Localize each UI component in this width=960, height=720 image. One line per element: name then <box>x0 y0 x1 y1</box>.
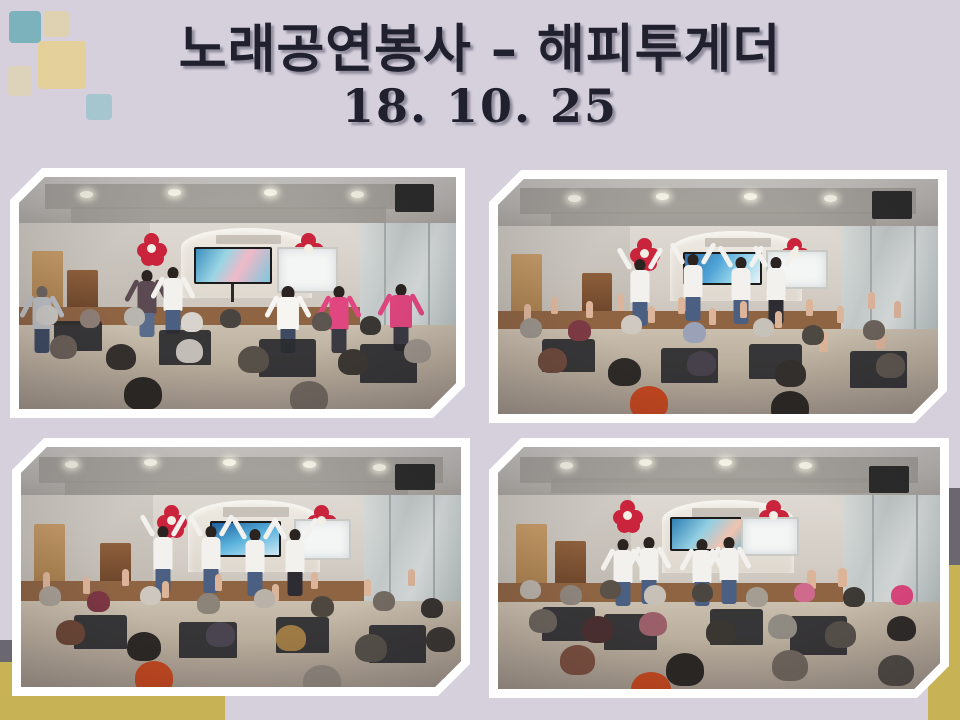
slide-date: 18. 10. 25 <box>0 80 960 133</box>
photo-bottom-left-image <box>21 447 461 687</box>
photo-bottom-right-image <box>498 447 940 689</box>
photo-top-right[interactable] <box>489 170 947 423</box>
photo-top-right-image <box>498 179 938 414</box>
decor-square-beige-left <box>8 66 32 96</box>
slide-title-block: 노래공연봉사 – 해피투게더 18. 10. 25 <box>0 22 960 133</box>
decor-square-teal-small <box>9 11 41 43</box>
photo-top-left[interactable] <box>10 168 465 418</box>
balloon-flower-left <box>613 500 643 530</box>
slide-title: 노래공연봉사 – 해피투게더 <box>0 22 960 78</box>
decor-square-beige-large <box>38 41 86 89</box>
photo-bottom-left[interactable] <box>12 438 470 696</box>
decor-square-beige-small <box>43 11 69 37</box>
presentation-slide: 노래공연봉사 – 해피투게더 18. 10. 25 <box>0 0 960 720</box>
photo-top-left-image <box>19 177 456 409</box>
balloon-flower-left <box>137 233 167 263</box>
photo-bottom-right[interactable] <box>489 438 949 698</box>
decor-square-teal-lower <box>86 94 112 120</box>
